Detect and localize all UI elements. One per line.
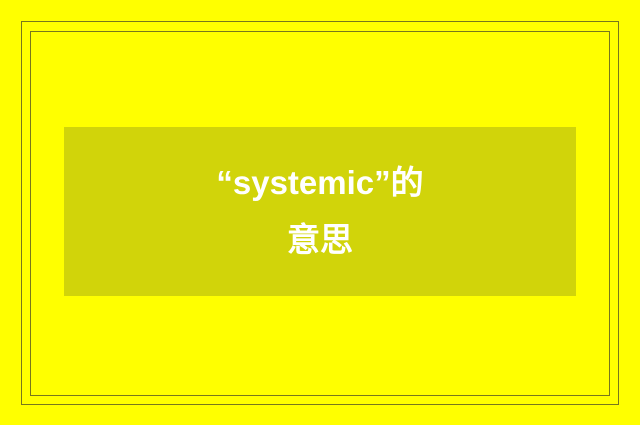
page-title: “systemic”的意思: [205, 155, 435, 269]
title-panel: “systemic”的意思: [64, 127, 576, 296]
poster-canvas: “systemic”的意思: [0, 0, 640, 425]
